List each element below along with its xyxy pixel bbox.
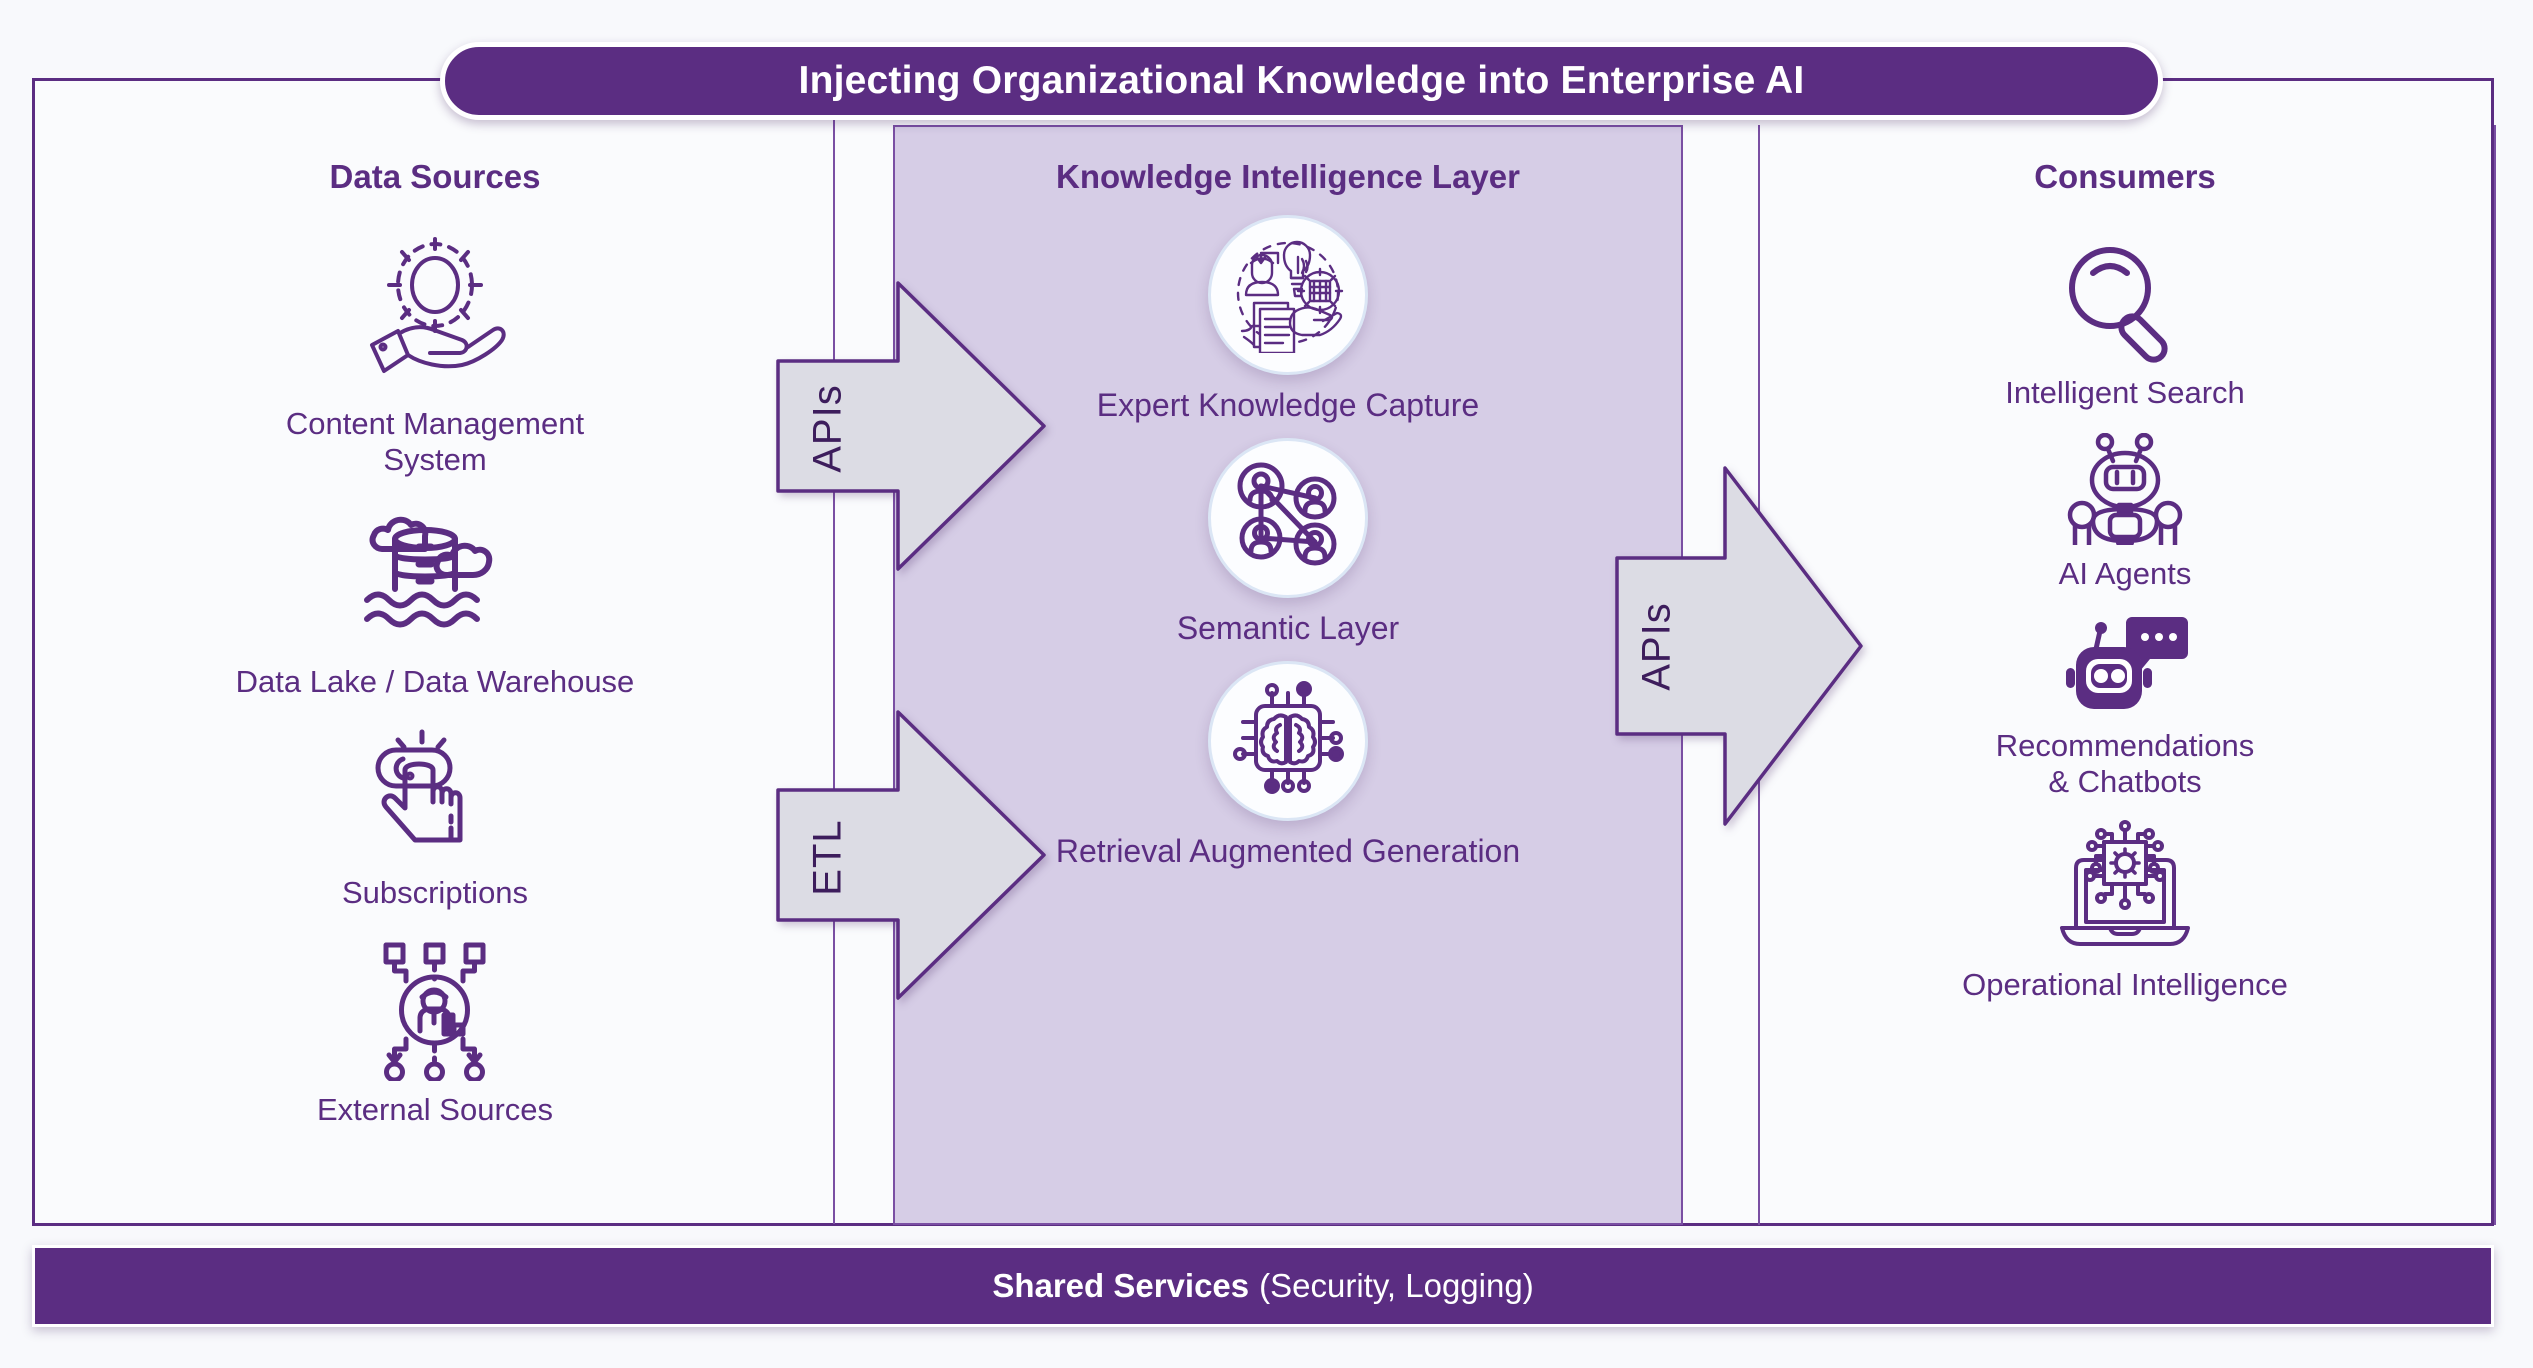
arrow-apis-outbound: APIs (1615, 466, 1865, 826)
list-item-external-sources[interactable]: External Sources (317, 939, 553, 1128)
arrow-label-apis-outbound: APIs (1635, 577, 1680, 717)
rag-badge (1208, 661, 1368, 821)
consumers-item-list: Intelligent Search (1758, 240, 2492, 1002)
column-header-consumers: Consumers (1758, 158, 2492, 196)
list-item-label: AI Agents (2059, 556, 2192, 592)
list-item-intelligent-search[interactable]: Intelligent Search (2005, 240, 2245, 411)
expert-knowledge-capture-badge (1208, 215, 1368, 375)
shared-services-detail: (Security, Logging) (1259, 1267, 1534, 1305)
list-item-label: Subscriptions (342, 875, 528, 911)
list-item-label: Retrieval Augmented Generation (1056, 833, 1520, 870)
list-item-retrieval-augmented-generation[interactable]: Retrieval Augmented Generation (1056, 661, 1520, 870)
list-item-content-management-system[interactable]: Content Management System (286, 235, 584, 477)
list-item-semantic-layer[interactable]: Semantic Layer (1177, 438, 1399, 647)
arrow-label-apis-inbound: APIs (806, 359, 851, 499)
hand-clicking-toggle-icon (365, 728, 505, 869)
list-item-label: External Sources (317, 1092, 553, 1128)
hand-holding-gear-icon (350, 235, 520, 400)
diagram-title-banner: Injecting Organizational Knowledge into … (440, 42, 2163, 120)
list-item-label: Expert Knowledge Capture (1097, 387, 1479, 424)
list-item-subscriptions[interactable]: Subscriptions (342, 728, 528, 911)
robot-outline-icon (2065, 433, 2185, 550)
column-header-knowledge-intelligence-layer: Knowledge Intelligence Layer (893, 158, 1683, 196)
list-item-data-lake-data-warehouse[interactable]: Data Lake / Data Warehouse (236, 503, 635, 700)
list-item-ai-agents[interactable]: AI Agents (2059, 433, 2192, 592)
arrow-apis-inbound: APIs (776, 281, 1046, 571)
list-item-label: Semantic Layer (1177, 610, 1399, 647)
laptop-circuit-gear-icon (2050, 816, 2200, 961)
list-item-label: Operational Intelligence (1962, 967, 2288, 1003)
list-item-operational-intelligence[interactable]: Operational Intelligence (1962, 816, 2288, 1003)
arrow-label-etl-inbound: ETL (806, 788, 851, 928)
shared-services-label: Shared Services (992, 1267, 1249, 1305)
chatbot-speech-bubble-icon (2060, 613, 2190, 722)
data-sources-item-list: Content Management System (35, 235, 835, 1127)
list-item-label: Data Lake / Data Warehouse (236, 664, 635, 700)
list-item-recommendations-chatbots[interactable]: Recommendations & Chatbots (1996, 613, 2254, 799)
shared-services-bar: Shared Services (Security, Logging) (32, 1245, 2494, 1327)
database-lake-cloud-icon (355, 503, 515, 658)
expert-knowledge-icon (1228, 233, 1348, 358)
list-item-label: Content Management System (286, 406, 584, 477)
list-item-expert-knowledge-capture[interactable]: Expert Knowledge Capture (1097, 215, 1479, 424)
architecture-diagram: Injecting Organizational Knowledge into … (0, 0, 2533, 1368)
brain-chip-icon (1229, 679, 1347, 802)
magnifier-icon (2060, 240, 2190, 369)
person-network-nodes-icon (365, 939, 505, 1086)
list-item-label: Recommendations & Chatbots (1996, 728, 2254, 799)
arrow-etl-inbound: ETL (776, 710, 1046, 1000)
semantic-layer-badge (1208, 438, 1368, 598)
column-header-data-sources: Data Sources (35, 158, 835, 196)
list-item-label: Intelligent Search (2005, 375, 2245, 411)
page-title: Injecting Organizational Knowledge into … (799, 59, 1805, 103)
people-network-graph-icon (1229, 456, 1347, 579)
